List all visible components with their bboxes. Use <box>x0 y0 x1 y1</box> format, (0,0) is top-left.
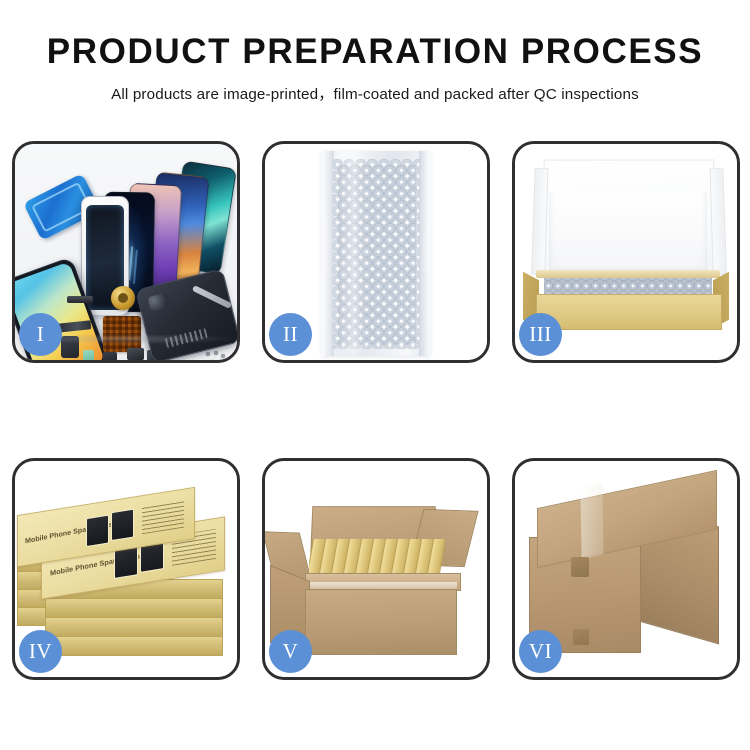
retail-box-edge <box>45 617 223 637</box>
step-badge: I <box>19 313 62 356</box>
step-badge: VI <box>519 630 562 673</box>
sealing-tape <box>580 483 603 560</box>
retail-box-thumbnail <box>86 515 109 548</box>
carton-corner-mark <box>573 629 589 645</box>
wrap-seam-right <box>419 151 430 356</box>
wrap-seam-left <box>322 151 334 356</box>
inner-box-rim <box>536 270 720 278</box>
screws-part <box>205 350 227 360</box>
vibration-coil-part <box>111 286 135 310</box>
page-subtitle: All products are image-printed，film-coat… <box>0 82 750 104</box>
speaker-part <box>67 296 93 303</box>
inner-box-front <box>536 294 722 330</box>
carton-filling-panel[interactable]: V <box>262 458 490 680</box>
bubble-wrap-panel[interactable]: II <box>262 141 490 363</box>
carton-handle-notch <box>571 557 589 577</box>
wrap-sheen <box>340 151 366 356</box>
battery-part <box>83 350 94 360</box>
retail-box-edge <box>45 598 223 618</box>
retail-box-thumbnail <box>111 509 134 542</box>
step-badge: III <box>519 313 562 356</box>
page-title: PRODUCT PREPARATION PROCESS <box>0 34 750 71</box>
inner-box-panel[interactable]: III <box>512 141 740 363</box>
process-step-grid: I II III <box>12 141 740 680</box>
sealed-carton-panel[interactable]: VI <box>512 458 740 680</box>
retail-box-stack-panel[interactable]: Mobile Phone Spare Parts Mobile Phone Sp… <box>12 458 240 680</box>
product-parts-panel[interactable]: I <box>12 141 240 363</box>
chip-a-part <box>127 348 144 360</box>
step-badge: II <box>269 313 312 356</box>
carton-front-face <box>305 589 457 655</box>
camera-module-part <box>103 352 117 360</box>
header: PRODUCT PREPARATION PROCESS All products… <box>0 0 750 104</box>
bubble-wrap-sleeve <box>322 151 430 356</box>
step-badge: IV <box>19 630 62 673</box>
retail-box-edge <box>45 636 223 656</box>
step-badge: V <box>269 630 312 673</box>
white-foam-insert <box>549 192 707 274</box>
